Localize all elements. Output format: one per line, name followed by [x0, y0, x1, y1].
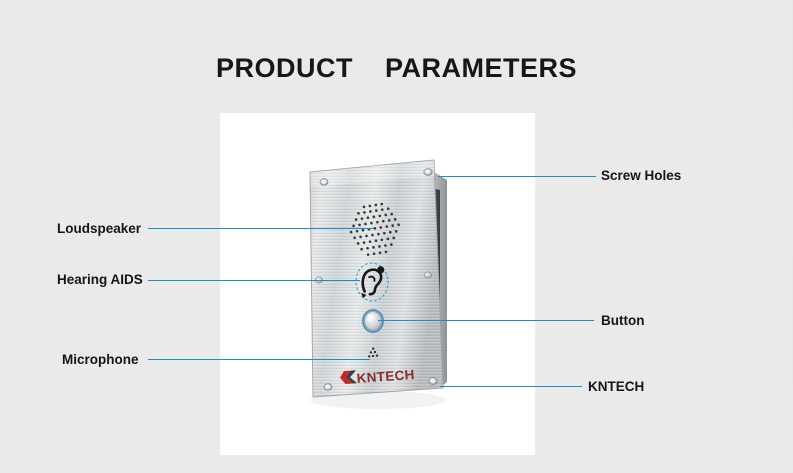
leader-line-microphone: [148, 359, 370, 360]
product-parameters-diagram: PRODUCT PARAMETERS: [0, 0, 793, 473]
callout-label-hearing-aids: Hearing AIDS: [57, 273, 143, 287]
leader-line-kntech: [440, 386, 582, 387]
callout-label-button: Button: [601, 314, 644, 328]
leader-line-hearing-aids: [148, 280, 360, 281]
callout-label-loudspeaker: Loudspeaker: [57, 222, 141, 236]
leader-line-loudspeaker: [148, 228, 374, 229]
callout-label-microphone: Microphone: [62, 353, 139, 367]
callout-label-kntech: KNTECH: [588, 380, 644, 394]
leader-line-screw-holes: [438, 176, 596, 177]
callout-label-screw-holes: Screw Holes: [601, 169, 681, 183]
leader-line-button: [378, 320, 594, 321]
product-image-stage: [220, 113, 535, 455]
page-title: PRODUCT PARAMETERS: [0, 53, 793, 84]
